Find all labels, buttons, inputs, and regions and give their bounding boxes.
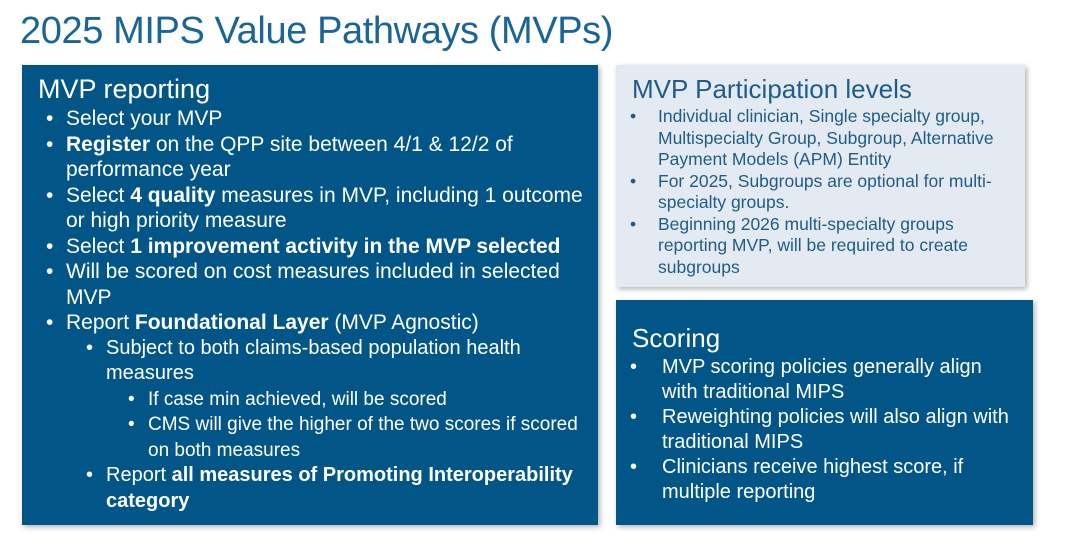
- panel-mvp-reporting-heading: MVP reporting: [38, 73, 586, 105]
- bullet-glyph-icon: •: [86, 463, 93, 489]
- bullet-glyph-icon: •: [630, 171, 636, 193]
- bullet-text: Reweighting policies will also align wit…: [662, 405, 1021, 455]
- bullet-item: •Report all measures of Promoting Intero…: [36, 463, 586, 514]
- bullet-item: •CMS will give the higher of the two sco…: [36, 412, 586, 463]
- bullet-item: •Individual clinician, Single specialty …: [630, 106, 1013, 171]
- bullet-item: •Subject to both claims-based population…: [36, 336, 586, 387]
- bullet-text: Individual clinician, Single specialty g…: [658, 106, 1013, 171]
- bullet-item: •Register on the QPP site between 4/1 & …: [36, 132, 586, 183]
- bullet-text: Report all measures of Promoting Interop…: [106, 463, 586, 514]
- bullet-text: Will be scored on cost measures included…: [66, 259, 586, 310]
- bullet-text: CMS will give the higher of the two scor…: [148, 412, 586, 463]
- bullet-glyph-icon: •: [46, 183, 53, 209]
- bullet-glyph-icon: •: [46, 259, 53, 285]
- bullet-text: Register on the QPP site between 4/1 & 1…: [66, 132, 586, 183]
- bullet-glyph-icon: •: [86, 336, 93, 362]
- bullet-item: •Will be scored on cost measures include…: [36, 259, 586, 310]
- bullet-text: Beginning 2026 multi-specialty groups re…: [658, 214, 1013, 279]
- bullet-glyph-icon: •: [46, 234, 53, 260]
- bullet-item: •If case min achieved, will be scored: [36, 387, 586, 413]
- panel-participation-levels-list: •Individual clinician, Single specialty …: [630, 106, 1013, 278]
- panel-scoring: Scoring •MVP scoring policies generally …: [616, 300, 1033, 525]
- bullet-item: •Select 1 improvement activity in the MV…: [36, 234, 586, 260]
- panel-participation-levels: MVP Participation levels •Individual cli…: [616, 65, 1025, 287]
- page-title: 2025 MIPS Value Pathways (MVPs): [20, 8, 1020, 54]
- bullet-item: •Clinicians receive highest score, if mu…: [630, 455, 1021, 505]
- bullet-text: Report Foundational Layer (MVP Agnostic): [66, 310, 586, 336]
- bullet-glyph-icon: •: [630, 106, 636, 128]
- panel-mvp-reporting: MVP reporting •Select your MVP•Register …: [22, 65, 598, 525]
- bullet-text: MVP scoring policies generally align wit…: [662, 355, 1021, 405]
- bullet-glyph-icon: •: [128, 412, 135, 438]
- bullet-text: Clinicians receive highest score, if mul…: [662, 455, 1021, 505]
- bullet-text: For 2025, Subgroups are optional for mul…: [658, 171, 1013, 214]
- bullet-item: •MVP scoring policies generally align wi…: [630, 355, 1021, 405]
- bullet-item: •For 2025, Subgroups are optional for mu…: [630, 171, 1013, 214]
- bullet-glyph-icon: •: [46, 106, 53, 132]
- panel-mvp-reporting-list: •Select your MVP•Register on the QPP sit…: [36, 106, 586, 514]
- bullet-item: •Report Foundational Layer (MVP Agnostic…: [36, 310, 586, 336]
- bullet-item: •Beginning 2026 multi-specialty groups r…: [630, 214, 1013, 279]
- bullet-text: Subject to both claims-based population …: [106, 336, 586, 387]
- bullet-text: Select your MVP: [66, 106, 586, 132]
- bullet-glyph-icon: •: [630, 355, 637, 380]
- bullet-text: If case min achieved, will be scored: [148, 387, 586, 413]
- bullet-item: •Select your MVP: [36, 106, 586, 132]
- bullet-glyph-icon: •: [630, 455, 637, 480]
- bullet-text: Select 4 quality measures in MVP, includ…: [66, 183, 586, 234]
- panel-scoring-list: •MVP scoring policies generally align wi…: [630, 355, 1021, 505]
- bullet-item: •Reweighting policies will also align wi…: [630, 405, 1021, 455]
- bullet-glyph-icon: •: [46, 132, 53, 158]
- bullet-text: Select 1 improvement activity in the MVP…: [66, 234, 586, 260]
- bullet-glyph-icon: •: [630, 214, 636, 236]
- bullet-item: •Select 4 quality measures in MVP, inclu…: [36, 183, 586, 234]
- panel-scoring-heading: Scoring: [632, 322, 1021, 354]
- bullet-glyph-icon: •: [630, 405, 637, 430]
- bullet-glyph-icon: •: [128, 387, 135, 413]
- panel-participation-levels-heading: MVP Participation levels: [632, 73, 1013, 105]
- bullet-glyph-icon: •: [46, 310, 53, 336]
